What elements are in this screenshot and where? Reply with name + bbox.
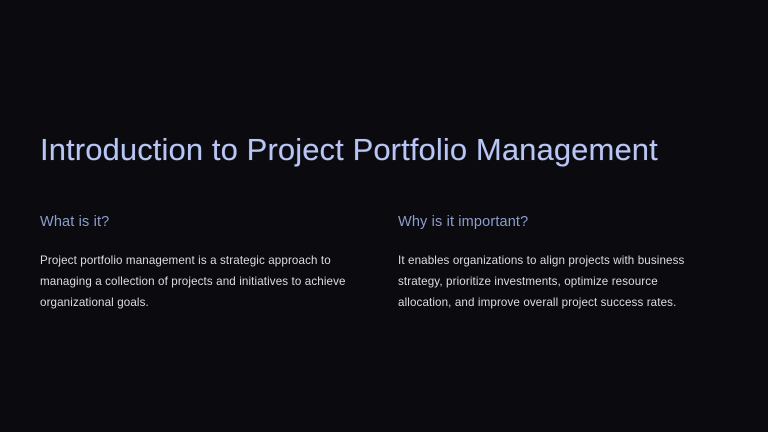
column-body-why-is-it-important: It enables organizations to align projec… — [398, 250, 708, 313]
column-body-what-is-it: Project portfolio management is a strate… — [40, 250, 350, 313]
page-title: Introduction to Project Portfolio Manage… — [40, 131, 658, 169]
column-why-is-it-important: Why is it important? It enables organiza… — [398, 212, 708, 313]
column-heading-why-is-it-important: Why is it important? — [398, 212, 708, 232]
column-heading-what-is-it: What is it? — [40, 212, 350, 232]
content-columns: What is it? Project portfolio management… — [40, 212, 730, 313]
presentation-slide: Introduction to Project Portfolio Manage… — [0, 0, 768, 432]
column-what-is-it: What is it? Project portfolio management… — [40, 212, 350, 313]
